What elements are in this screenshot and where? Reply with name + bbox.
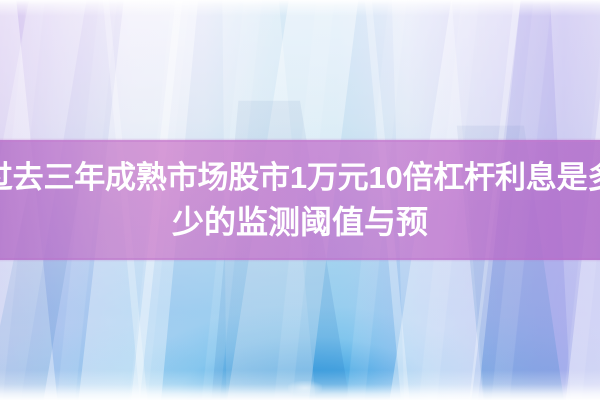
title-line-2: 少的监测阈值与预 — [172, 201, 428, 243]
watermark — [288, 381, 322, 395]
title-banner: 过去三年成熟市场股市1万元10倍杠杆利息是多 少的监测阈值与预 — [0, 0, 600, 400]
title-line-1: 过去三年成熟市场股市1万元10倍杠杆利息是多 — [0, 157, 600, 199]
title-text-block: 过去三年成熟市场股市1万元10倍杠杆利息是多 少的监测阈值与预 — [0, 140, 600, 260]
